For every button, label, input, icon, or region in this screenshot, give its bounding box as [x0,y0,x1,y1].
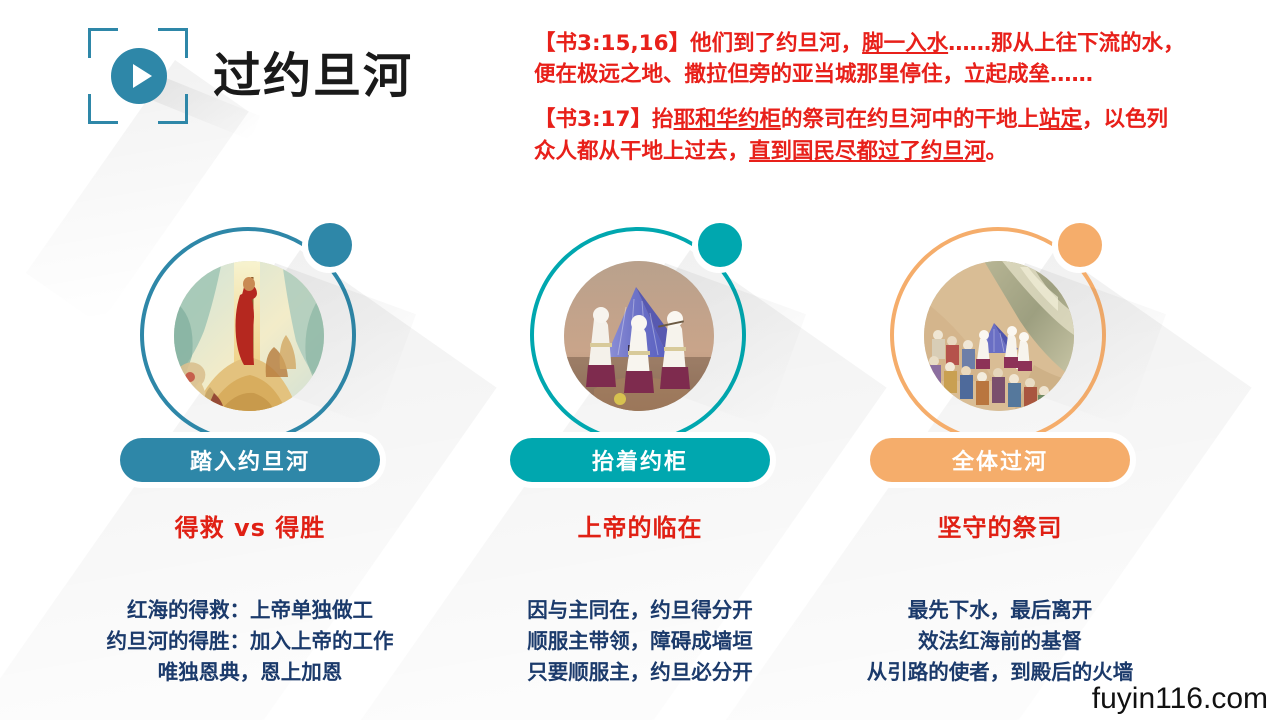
content-column: 抬着约柜 上帝的临在 因与主同在，约旦得分开 顺服主带领，障碍成墙垣 只要顺服主… [470,215,810,688]
verse-text: ，以色列 [1082,107,1168,132]
play-icon [111,48,167,104]
column-heading: 坚守的祭司 [830,508,1170,543]
verse-emphasis: 直到国民尽都过了约旦河 [749,139,986,164]
pill-label[interactable]: 抬着约柜 [510,438,770,482]
photo-israelites-crossing [924,261,1074,411]
verse-ref: 【书3:15,16】 [534,31,690,56]
column-body: 最先下水，最后离开 效法红海前的基督 从引路的使者，到殿后的火墙 [830,595,1170,688]
pill-label-wrap: 踏入约旦河 [120,438,380,482]
scripture-verse-1-line-2: 便在极远之地、撒拉但旁的亚当城那里停住，立起成垒…… [534,59,1260,90]
verse-text: 他们到了约旦河， [690,31,862,56]
verse-text: 的祭司在约旦河中的干地上 [781,107,1039,132]
pill-label-wrap: 全体过河 [870,438,1130,482]
verse-text: 众人都从干地上过去， [534,139,749,164]
circle-graphic [880,215,1120,460]
verse-ref: 【书3:17】 [534,107,652,132]
ring-dot-icon [1058,223,1102,267]
body-line: 唯独恩典，恩上加恩 [80,657,420,688]
column-heading: 得救 vs 得胜 [80,508,420,543]
scripture-verse-1-line-1: 【书3:15,16】他们到了约旦河，脚一入水……那从上往下流的水， [534,28,1260,59]
column-heading: 上帝的临在 [470,508,810,543]
body-line: 红海的得救：上帝单独做工 [80,595,420,626]
verse-emphasis: 脚一入水 [862,31,948,56]
body-line: 效法红海前的基督 [830,626,1170,657]
verse-emphasis: 站定 [1039,107,1082,132]
pill-label[interactable]: 踏入约旦河 [120,438,380,482]
scripture-verse-2-line-2: 众人都从干地上过去，直到国民尽都过了约旦河。 [534,136,1260,167]
body-line: 约旦河的得胜：加入上帝的工作 [80,626,420,657]
scripture-verse-1: 【书3:15,16】他们到了约旦河，脚一入水……那从上往下流的水， 便在极远之地… [520,28,1260,90]
slide-canvas: 过约旦河 【书3:15,16】他们到了约旦河，脚一入水……那从上往下流的水， 便… [0,0,1280,720]
pill-label[interactable]: 全体过河 [870,438,1130,482]
circle-graphic [130,215,370,460]
scripture-verse-2: 【书3:17】抬耶和华约柜的祭司在约旦河中的干地上站定，以色列 众人都从干地上过… [520,104,1260,166]
pill-label-wrap: 抬着约柜 [510,438,770,482]
photo-priests-carrying-ark [564,261,714,411]
circle-graphic [520,215,760,460]
content-column: 全体过河 坚守的祭司 最先下水，最后离开 效法红海前的基督 从引路的使者，到殿后… [830,215,1170,688]
ring-dot-icon [698,223,742,267]
verse-text: ……那从上往下流的水， [948,31,1185,56]
verse-text: 抬 [652,107,674,132]
verse-text: 。 [986,139,1008,164]
ring-dot-icon [308,223,352,267]
column-body: 因与主同在，约旦得分开 顺服主带领，障碍成墙垣 只要顺服主，约旦必分开 [470,595,810,688]
scripture-block: 【书3:15,16】他们到了约旦河，脚一入水……那从上往下流的水， 便在极远之地… [520,28,1260,181]
body-line: 顺服主带领，障碍成墙垣 [470,626,810,657]
logo [88,28,188,124]
watermark: fuyin116.com [1092,682,1268,716]
verse-emphasis: 耶和华约柜 [674,107,782,132]
body-line: 最先下水，最后离开 [830,595,1170,626]
scripture-verse-2-line-1: 【书3:17】抬耶和华约柜的祭司在约旦河中的干地上站定，以色列 [534,104,1260,135]
body-line: 因与主同在，约旦得分开 [470,595,810,626]
page-title: 过约旦河 [213,36,413,106]
column-body: 红海的得救：上帝单独做工 约旦河的得胜：加入上帝的工作 唯独恩典，恩上加恩 [80,595,420,688]
photo-joshua-at-jordan [174,261,324,411]
content-column: 踏入约旦河 得救 vs 得胜 红海的得救：上帝单独做工 约旦河的得胜：加入上帝的… [80,215,420,688]
body-line: 只要顺服主，约旦必分开 [470,657,810,688]
